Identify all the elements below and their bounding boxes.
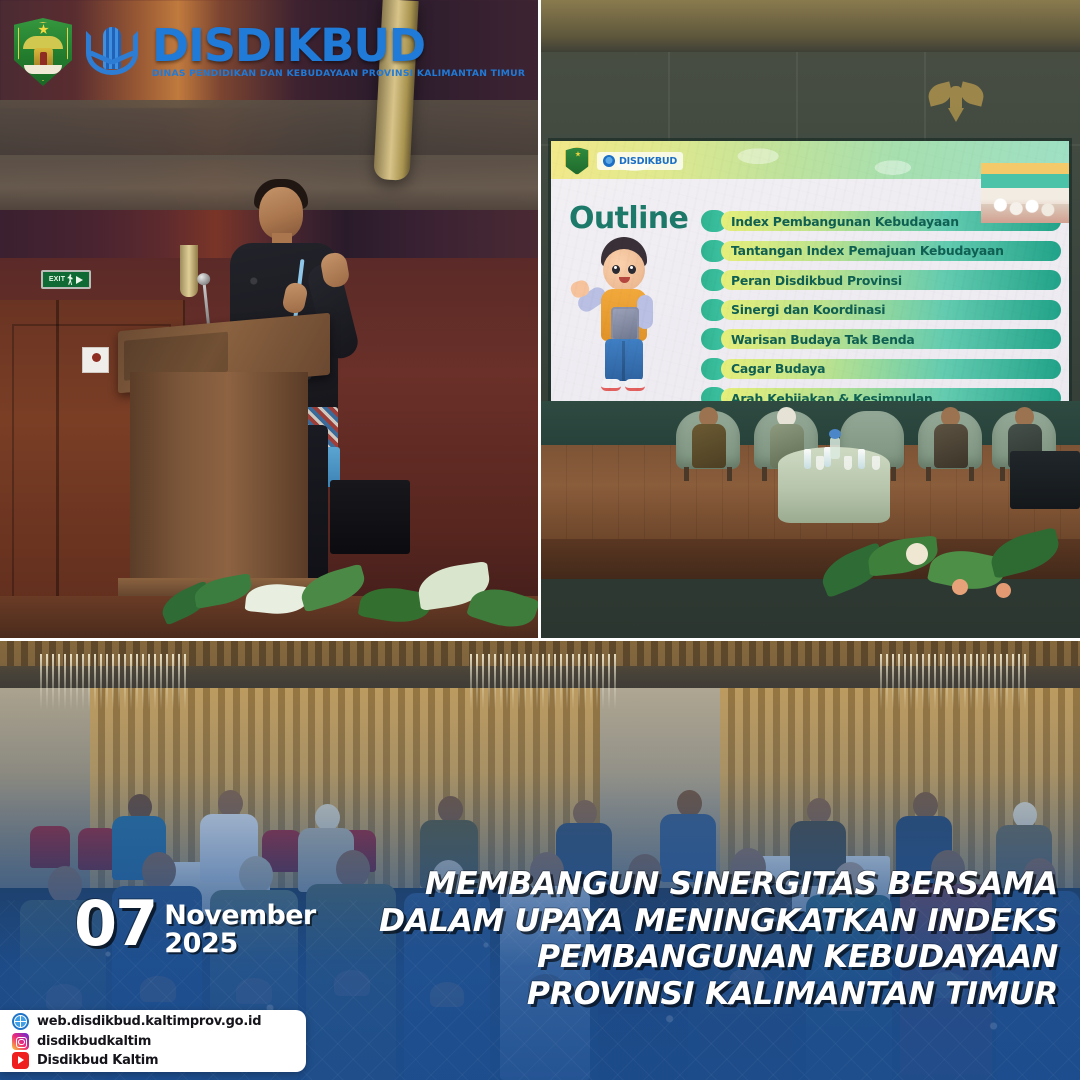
collage-horizontal-divider bbox=[0, 638, 1080, 641]
presentation-slide: DISDIKBUD Outline bbox=[551, 141, 1069, 401]
drinking-glass bbox=[816, 456, 824, 470]
orange-flower bbox=[996, 583, 1011, 598]
instagram-handle: disdikbudkaltim bbox=[37, 1034, 151, 1049]
globe-icon bbox=[12, 1013, 29, 1030]
flower-vase bbox=[830, 437, 840, 459]
running-man-icon bbox=[67, 274, 74, 285]
headline-line: PROVINSI KALIMANTAN TIMUR bbox=[378, 976, 1058, 1013]
hall-ceiling bbox=[540, 0, 1080, 52]
white-flower bbox=[906, 543, 928, 565]
disdikbud-logo-mark-icon bbox=[84, 21, 140, 83]
event-date: 07 November 2025 bbox=[74, 898, 316, 959]
instagram-icon bbox=[12, 1033, 29, 1050]
slide-corner-photo-inset bbox=[981, 163, 1069, 223]
provincial-emblem-icon bbox=[565, 147, 589, 175]
stage-monitor bbox=[1010, 451, 1080, 509]
website-url: web.disdikbud.kaltimprov.go.id bbox=[37, 1014, 261, 1029]
collage-vertical-divider bbox=[538, 0, 541, 640]
drinking-glass bbox=[844, 456, 852, 470]
list-item: Peran Disdikbud Provinsi bbox=[701, 268, 1061, 292]
slide-outline-list: Index Pembangunan Kebudayaan Tantangan I… bbox=[701, 209, 1061, 401]
mascot-left-shoe bbox=[601, 379, 621, 391]
mascot-eye-left bbox=[612, 265, 620, 274]
disdikbud-mark-icon bbox=[603, 155, 615, 167]
footer-row-website[interactable]: web.disdikbud.kaltimprov.go.id bbox=[12, 1013, 296, 1030]
wall-notice-sign bbox=[82, 347, 109, 373]
outline-item-label: Index Pembangunan Kebudayaan bbox=[731, 214, 959, 229]
outline-item-label: Peran Disdikbud Provinsi bbox=[731, 273, 902, 288]
list-item: Arah Kebijakan & Kesimpulan bbox=[701, 386, 1061, 401]
water-bottle bbox=[804, 449, 811, 469]
footer-row-youtube[interactable]: Disdikbud Kaltim bbox=[12, 1052, 296, 1069]
social-footer: web.disdikbud.kaltimprov.go.id disdikbud… bbox=[0, 1010, 306, 1072]
wall-column-accent bbox=[180, 245, 198, 297]
kalimantan-timur-provincial-emblem-icon bbox=[14, 18, 72, 86]
plant-leaf bbox=[245, 581, 310, 617]
garuda-emblem-icon bbox=[928, 78, 984, 124]
list-item: Tantangan Index Pemajuan Kebudayaan bbox=[701, 239, 1061, 263]
photo-speaker-at-podium: EXIT bbox=[0, 0, 540, 640]
poster-canvas: EXIT bbox=[0, 0, 1080, 1080]
slide-logo-group: DISDIKBUD bbox=[565, 147, 683, 175]
stage-plants bbox=[150, 560, 540, 640]
exit-sign-label: EXIT bbox=[49, 276, 65, 283]
foreground-flower-arrangement bbox=[820, 531, 1080, 640]
date-month-year: November 2025 bbox=[164, 898, 315, 959]
podium-body bbox=[130, 372, 308, 592]
mascot-right-shoe bbox=[625, 379, 645, 391]
headline-line: MEMBANGUN SINERGITAS BERSAMA bbox=[378, 866, 1058, 903]
date-day: 07 bbox=[74, 898, 156, 950]
outline-item-label: Warisan Budaya Tak Benda bbox=[731, 332, 915, 347]
slide-logo-text: DISDIKBUD bbox=[619, 156, 677, 167]
mascot-leg-seam bbox=[622, 341, 625, 381]
orange-flower bbox=[952, 579, 968, 595]
stage-speaker-box bbox=[330, 480, 410, 554]
footer-row-instagram[interactable]: disdikbudkaltim bbox=[12, 1033, 296, 1050]
brand-wordmark-block: DISDIKBUD DINAS PENDIDIKAN DAN KEBUDAYAA… bbox=[152, 25, 525, 79]
date-month: November bbox=[164, 902, 315, 929]
emblem-ribbon bbox=[24, 65, 62, 74]
exit-sign: EXIT bbox=[41, 270, 91, 289]
list-item: Warisan Budaya Tak Benda bbox=[701, 327, 1061, 351]
photo-stage-panel-and-screen: DISDIKBUD Outline bbox=[540, 0, 1080, 640]
mascot-eye-right bbox=[628, 265, 636, 274]
mascot-head bbox=[603, 249, 645, 291]
list-item: Cagar Budaya bbox=[701, 357, 1061, 381]
poster-headline: MEMBANGUN SINERGITAS BERSAMA DALAM UPAYA… bbox=[378, 866, 1058, 1013]
date-year: 2025 bbox=[164, 929, 315, 959]
youtube-channel: Disdikbud Kaltim bbox=[37, 1053, 158, 1068]
brand-wordmark: DISDIKBUD bbox=[152, 25, 525, 66]
panelist bbox=[692, 407, 726, 469]
outline-item-label: Cagar Budaya bbox=[731, 361, 825, 376]
stage-area bbox=[540, 401, 1080, 640]
mascot-tablet-icon bbox=[611, 307, 639, 341]
mascot-right-sleeve bbox=[637, 295, 653, 329]
headline-line: PEMBANGUNAN KEBUDAYAAN bbox=[378, 939, 1058, 976]
headline-line: DALAM UPAYA MENINGKATKAN INDEKS bbox=[378, 903, 1058, 940]
drinking-glass bbox=[872, 456, 880, 470]
plant-leaf bbox=[987, 527, 1064, 579]
panelist-batik-shirt bbox=[692, 424, 726, 468]
youtube-icon bbox=[12, 1052, 29, 1069]
list-item: Sinergi dan Koordinasi bbox=[701, 298, 1061, 322]
panelist bbox=[934, 407, 968, 469]
outline-item-label: Tantangan Index Pemajuan Kebudayaan bbox=[731, 243, 1004, 258]
outline-item-label: Sinergi dan Koordinasi bbox=[731, 302, 885, 317]
ceiling-panel bbox=[0, 100, 540, 160]
outline-item-label: Arah Kebijakan & Kesimpulan bbox=[731, 391, 933, 402]
slide-disdikbud-logo: DISDIKBUD bbox=[597, 152, 683, 170]
speaker-head bbox=[259, 187, 303, 239]
brand-header: DISDIKBUD DINAS PENDIDIKAN DAN KEBUDAYAA… bbox=[14, 18, 525, 86]
slide-title: Outline bbox=[569, 201, 688, 236]
brand-subtitle: DINAS PENDIDIKAN DAN KEBUDAYAAN PROVINSI… bbox=[152, 68, 525, 79]
star-icon bbox=[38, 24, 49, 35]
water-bottle bbox=[858, 449, 865, 469]
door-seam bbox=[56, 300, 59, 640]
arrow-right-icon bbox=[76, 276, 83, 284]
slide-mascot-character bbox=[575, 237, 673, 397]
panelist-batik-shirt bbox=[934, 424, 968, 468]
